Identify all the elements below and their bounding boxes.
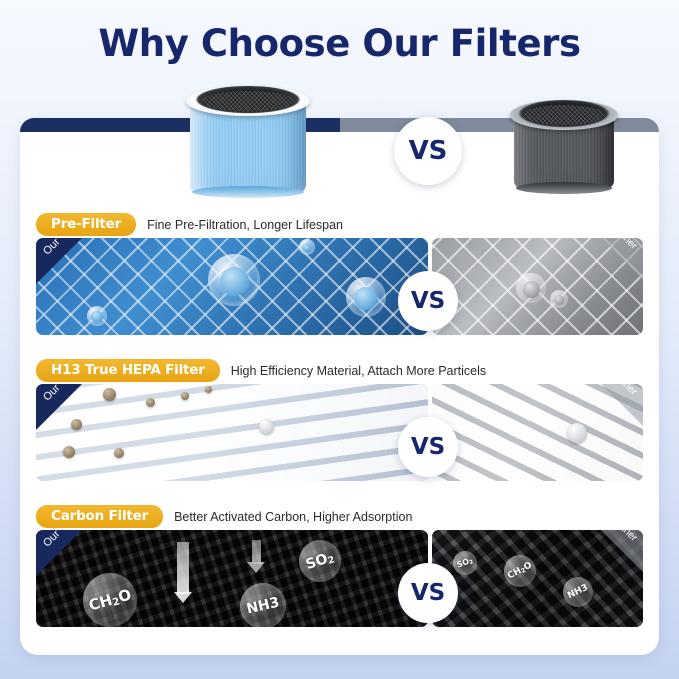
vs-badge-hero: VS [394,117,462,185]
panel-ours-hepa-filter: Our [36,384,428,481]
badge-pre-filter: Pre-Filter [36,213,136,236]
our-filter-base [192,186,304,198]
our-filter-product-image [190,86,306,198]
molecule-so2-label: SO2 [456,556,475,571]
row-label-pre-filter: Pre-Filter Fine Pre-Filtration, Longer L… [36,213,343,236]
our-filter-mesh-icon [201,91,295,111]
badge-carbon-filter: Carbon Filter [36,505,163,528]
molecule-ch2o: CH2O [498,550,541,593]
molecule-ch2o-label: CH2O [506,561,534,582]
molecule-so2: SO2 [293,534,346,587]
hepa-fiber-ours-image [36,384,428,481]
dust-particle [259,419,274,434]
particle-bubble [346,277,386,317]
page-title: Why Choose Our Filters [0,22,679,65]
dust-particle [205,386,212,393]
molecule-nh3: NH3 [235,579,290,627]
airflow-arrow [252,540,261,564]
vs-badge-pre-filter: VS [398,271,458,331]
other-filter-top-rim [510,100,618,130]
molecule-ch2o-label: CH2O [87,585,134,615]
dust-particle [63,446,75,458]
caption-hepa-filter: High Efficiency Material, Attach More Pa… [231,364,486,378]
row-label-carbon-filter: Carbon Filter Better Activated Carbon, H… [36,505,412,528]
molecule-ch2o: CH2O [77,566,144,627]
panel-other-hepa-filter: Other [432,384,643,481]
dust-particle [567,423,587,443]
other-filter-mesh-icon [523,105,605,125]
dust-particle [181,392,189,400]
molecule-nh3: NH3 [558,571,598,611]
vs-badge-carbon-filter: VS [398,563,458,623]
carbon-granules-ours-image: CH2O NH3 SO2 [36,530,428,627]
molecule-so2: SO2 [450,548,481,579]
hero-product-comparison [20,78,659,208]
other-filter-base [516,182,612,194]
particle-bubble [516,273,546,303]
panel-other-pre-filter: Other [432,238,643,335]
molecule-so2-label: SO2 [303,548,335,573]
row-label-hepa-filter: H13 True HEPA Filter High Efficiency Mat… [36,359,486,382]
panel-ours-pre-filter: Our [36,238,428,335]
caption-carbon-filter: Better Activated Carbon, Higher Adsorpti… [174,510,412,524]
molecule-nh3-label: NH3 [245,595,281,618]
particle-bubble [87,306,107,326]
airflow-arrow [177,542,189,594]
other-filter-product-image [514,100,614,194]
particle-bubble [550,290,568,308]
pre-filter-mesh-ours-image [36,238,428,335]
badge-hepa-filter: H13 True HEPA Filter [36,359,220,382]
vs-badge-hepa-filter: VS [398,417,458,477]
dust-particle [114,448,124,458]
particle-bubble [299,239,315,255]
caption-pre-filter: Fine Pre-Filtration, Longer Lifespan [147,218,343,232]
molecule-nh3-label: NH3 [566,582,590,600]
dust-particle [103,388,116,401]
particle-bubble [208,254,260,306]
panel-other-carbon-filter: SO2 CH2O NH3 Other [432,530,643,627]
panel-ours-carbon-filter: CH2O NH3 SO2 Our [36,530,428,627]
dust-particle [146,398,155,407]
our-filter-top-rim [186,86,310,116]
